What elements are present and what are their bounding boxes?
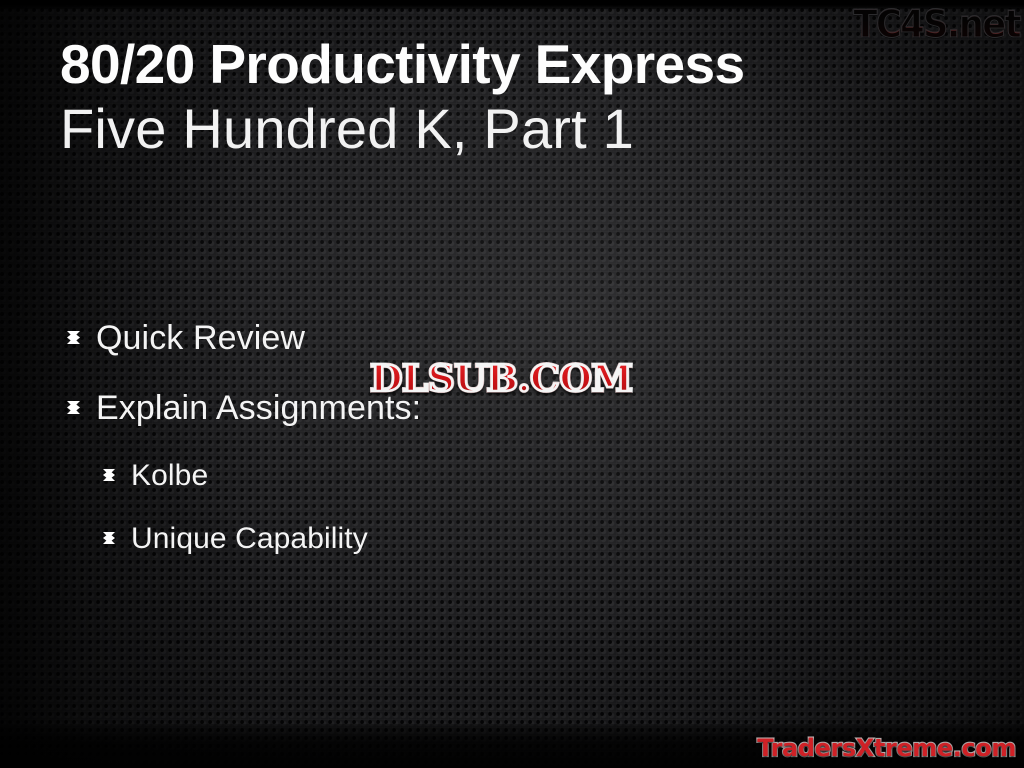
list-item-label: Unique Capability	[131, 521, 368, 557]
watermark-tc4s: TC4S.net	[853, 2, 1020, 46]
slide-subtitle: Five Hundred K, Part 1	[60, 98, 960, 161]
presentation-slide: 80/20 Productivity Express Five Hundred …	[0, 0, 1024, 768]
watermark-dlsub: DLSUB.COM	[370, 358, 632, 400]
bowtie-bullet-icon	[67, 331, 80, 344]
slide-title: 80/20 Productivity Express	[60, 36, 960, 92]
list-item-label: Quick Review	[96, 318, 305, 358]
slide-title-block: 80/20 Productivity Express Five Hundred …	[60, 36, 960, 161]
bowtie-bullet-icon	[103, 532, 115, 544]
bowtie-bullet-icon	[67, 401, 80, 414]
list-item-label: Kolbe	[131, 458, 208, 494]
bowtie-bullet-icon	[103, 469, 115, 481]
list-item: Kolbe	[60, 458, 920, 494]
watermark-tradersxtreme: TradersXtreme.com	[757, 734, 1016, 762]
list-item: Unique Capability	[60, 521, 920, 557]
list-item: Quick Review	[60, 318, 920, 358]
